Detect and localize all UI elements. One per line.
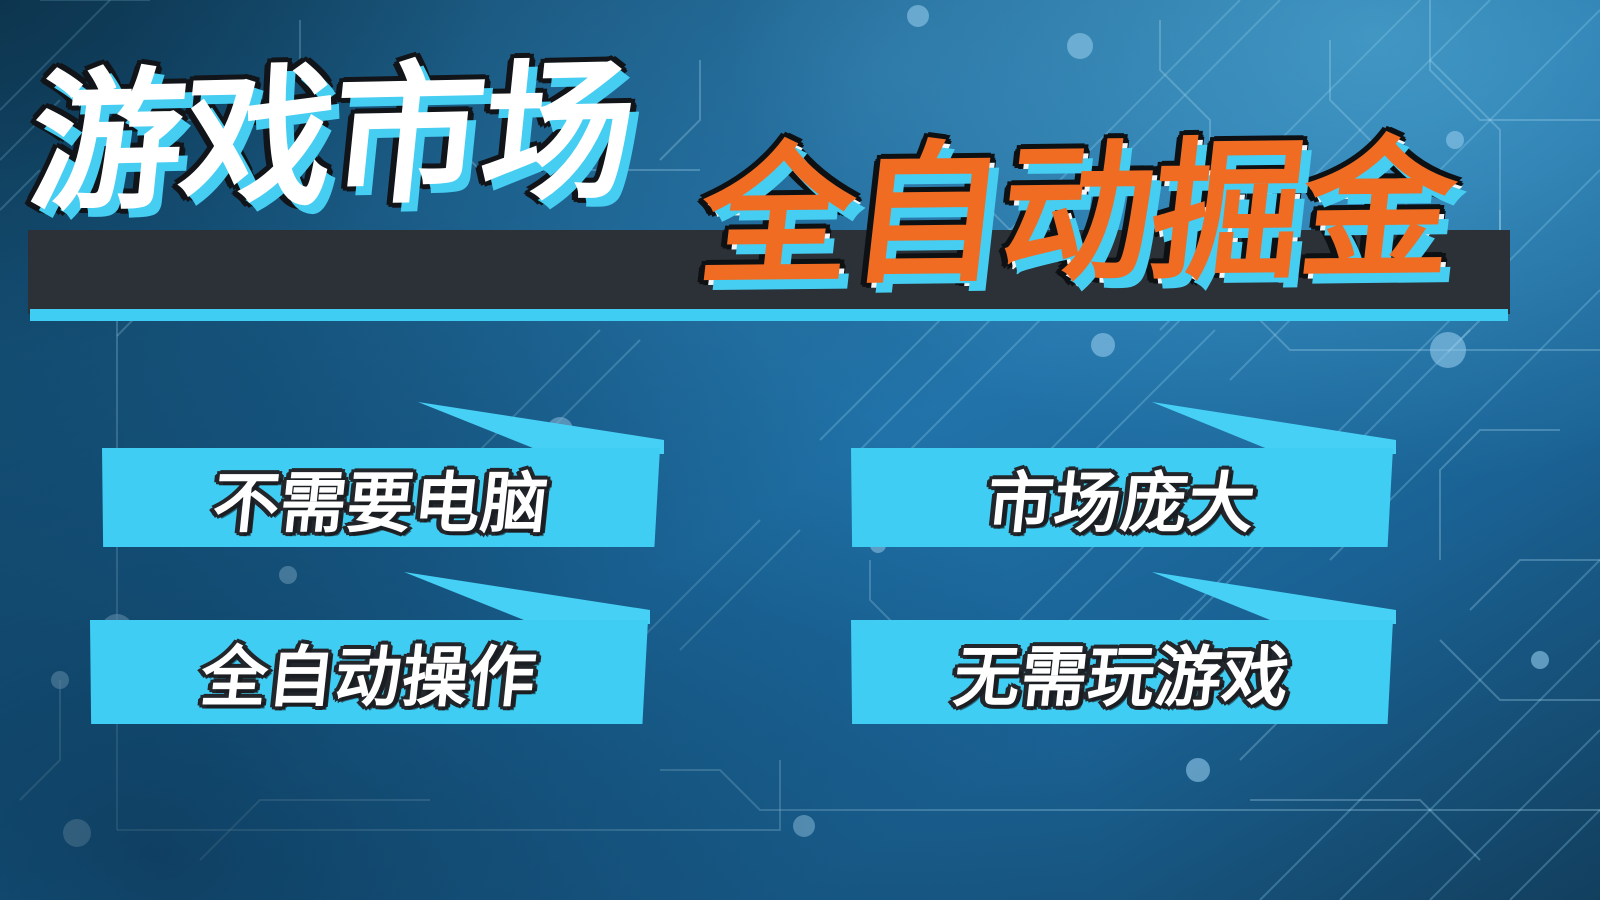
feature-box-no-computer[interactable]: 不需要电脑 — [102, 448, 660, 547]
poster-canvas: 游戏市场 全自动掘金 不需要电脑 市场庞大 全自动操作 无需玩游戏 — [0, 0, 1600, 900]
feature-label: 全自动操作 — [196, 624, 541, 720]
headline-group: 游戏市场 全自动掘金 — [0, 0, 1600, 340]
feature-box-fully-automatic[interactable]: 全自动操作 — [90, 620, 648, 724]
lightning-bolt-icon-2 — [404, 566, 650, 624]
headline-primary-text: 游戏市场 — [24, 56, 641, 221]
feature-label: 市场庞大 — [983, 450, 1261, 546]
headline-accent-text: 全自动掘金 — [693, 134, 1461, 294]
lightning-bolt-icon-1 — [1152, 396, 1396, 454]
feature-box-no-gameplay[interactable]: 无需玩游戏 — [851, 620, 1393, 724]
feature-box-large-market[interactable]: 市场庞大 — [851, 448, 1393, 547]
feature-label: 无需玩游戏 — [949, 624, 1294, 720]
lightning-bolt-icon-3 — [1152, 566, 1396, 624]
lightning-bolt-icon-0 — [418, 396, 664, 454]
feature-label: 不需要电脑 — [208, 450, 553, 546]
